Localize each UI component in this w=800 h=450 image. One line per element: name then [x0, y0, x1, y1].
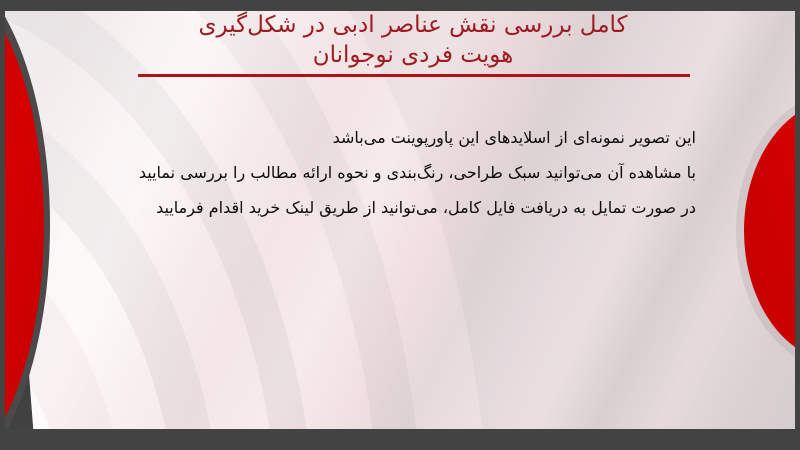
slide-frame-left: [0, 0, 5, 450]
slide-body-text: این تصویر نمونه‌ای از اسلایدهای این پاور…: [96, 120, 696, 225]
slide-title: کامل بررسی نقش عناصر ادبی در شکل‌گیری هو…: [130, 10, 696, 70]
title-underline-rule: [138, 74, 690, 77]
body-line-3: در صورت تمایل به دریافت فایل کامل، می‌تو…: [96, 190, 696, 225]
slide-frame-bottom: [0, 429, 800, 450]
slide-title-line-2: هویت فردی نوجوانان: [130, 40, 696, 70]
body-line-1: این تصویر نمونه‌ای از اسلایدهای این پاور…: [96, 120, 696, 155]
slide-title-line-1: کامل بررسی نقش عناصر ادبی در شکل‌گیری: [130, 10, 696, 40]
slide-frame-right: [795, 0, 800, 450]
slide-canvas: کامل بررسی نقش عناصر ادبی در شکل‌گیری هو…: [0, 0, 800, 450]
slide-frame-top: [0, 0, 800, 11]
body-line-2: با مشاهده آن می‌توانید سبک طراحی، رنگ‌بن…: [96, 155, 696, 190]
